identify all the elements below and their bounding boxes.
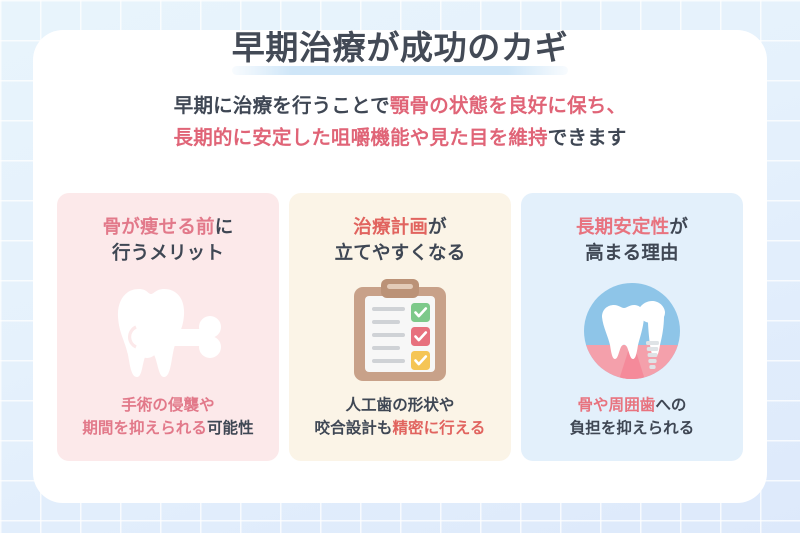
page-title-wrapper: 早期治療が成功のカギ (0, 28, 800, 73)
card-heading-line-2: 立てやすくなる (335, 241, 466, 267)
subtitle-line2-highlight: 長期的に安定した咀嚼機能や見た目を維持 (174, 126, 548, 149)
card-heading-line1-highlight: 骨が痩せる前 (103, 217, 215, 238)
card-icon-area (521, 268, 743, 394)
card-caption: 骨や周囲歯への 負担を抑えられる (570, 394, 695, 441)
benefit-card-long-term-stability: 長期安定性が 高まる理由 (521, 193, 743, 461)
benefit-cards-row: 骨が痩せる前に 行うメリット (57, 193, 743, 461)
benefit-card-bone-loss-merit: 骨が痩せる前に 行うメリット (57, 193, 279, 461)
subtitle-line-2: 長期的に安定した咀嚼機能や見た目を維持できます (0, 122, 800, 154)
subtitle-line2-plain: できます (548, 126, 627, 149)
benefit-card-treatment-plan: 治療計画が 立てやすくなる (289, 193, 511, 461)
checkbox-green (411, 303, 430, 322)
card-caption-line1-plain: への (655, 396, 686, 414)
card-heading-line-2: 行うメリット (103, 241, 234, 267)
card-heading-line-2: 高まる理由 (576, 241, 688, 267)
card-caption: 手術の侵襲や 期間を抑えられる可能性 (82, 394, 253, 441)
card-heading-line1-plain: が (428, 217, 447, 238)
card-caption-line-1: 骨や周囲歯への (570, 394, 695, 417)
card-icon-area (57, 268, 279, 394)
title-underline-bar (232, 66, 569, 75)
card-heading-line-1: 骨が痩せる前に (103, 215, 234, 241)
card-caption-line2-plain: 咬合設計も (315, 419, 393, 437)
subtitle-line1-highlight: 顎骨の状態を良好に保ち、 (390, 94, 626, 117)
card-caption: 人工歯の形状や 咬合設計も精密に行える (315, 394, 486, 441)
card-heading: 骨が痩せる前に 行うメリット (103, 215, 234, 268)
checkbox-yellow (411, 351, 430, 370)
card-heading-line1-plain: が (669, 217, 688, 238)
card-icon-area (289, 268, 511, 394)
card-heading-line1-highlight: 治療計画 (353, 217, 428, 238)
card-heading: 治療計画が 立てやすくなる (335, 215, 466, 268)
card-caption-line2-plain: 可能性 (207, 419, 254, 437)
card-heading-line-1: 長期安定性が (576, 215, 688, 241)
card-caption-line-1: 人工歯の形状や (315, 394, 486, 417)
card-heading-line1-highlight: 長期安定性 (576, 217, 669, 238)
subtitle-line-1: 早期に治療を行うことで顎骨の状態を良好に保ち、 (0, 90, 800, 122)
card-caption-line-1: 手術の侵襲や (82, 394, 253, 417)
card-heading-line1-plain: に (215, 217, 234, 238)
card-heading: 長期安定性が 高まる理由 (576, 215, 688, 268)
checkbox-red (411, 327, 430, 346)
card-caption-line1-highlight-1: 骨や (577, 396, 608, 414)
card-heading-line-1: 治療計画が (335, 215, 466, 241)
card-caption-line-2: 咬合設計も精密に行える (315, 417, 486, 440)
card-caption-line-2: 負担を抑えられる (570, 417, 695, 440)
card-caption-line1-highlight-2: 周囲歯 (609, 396, 656, 414)
page-title-text: 早期治療が成功のカギ (232, 28, 569, 67)
card-caption-line2-highlight: 期間を抑えられる (82, 419, 207, 437)
card-caption-line2-highlight: 精密に行える (392, 419, 485, 437)
page-title: 早期治療が成功のカギ (226, 28, 575, 73)
subtitle-line1-plain: 早期に治療を行うことで (174, 94, 390, 117)
card-caption-line-2: 期間を抑えられる可能性 (82, 417, 253, 440)
page-subtitle: 早期に治療を行うことで顎骨の状態を良好に保ち、 長期的に安定した咀嚼機能や見た目… (0, 90, 800, 153)
teeth-implant-circle-icon (580, 279, 684, 383)
clipboard-checklist-icon (348, 277, 452, 385)
tooth-bone-icon (109, 277, 227, 385)
